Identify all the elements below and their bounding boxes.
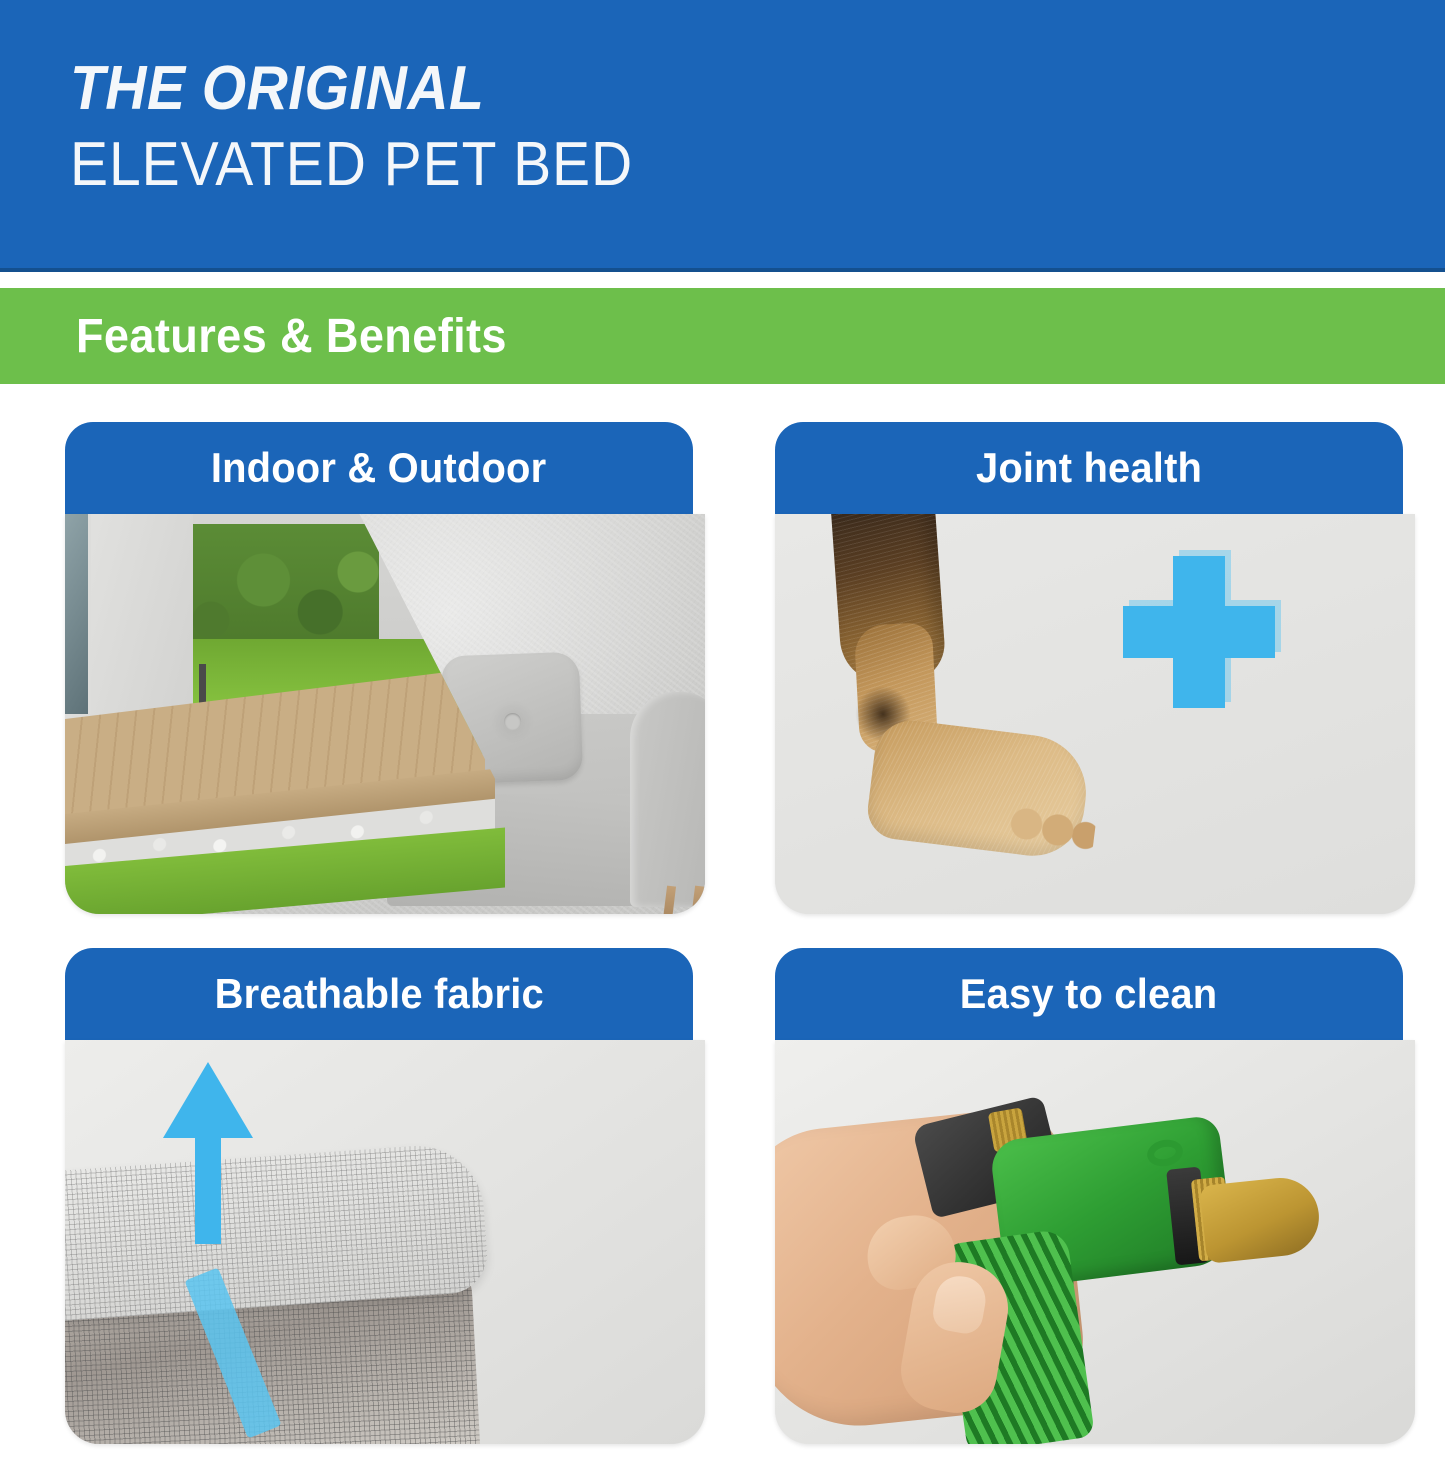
card-title-breathable-fabric: Breathable fabric [214, 970, 543, 1018]
feature-card-breathable-fabric: Breathable fabric [65, 948, 705, 1458]
card-title-joint-health: Joint health [976, 444, 1202, 492]
page-title-line-1: THE ORIGINAL [70, 58, 1335, 120]
sofa-armrest [630, 692, 705, 907]
airflow-arrow-icon [163, 1062, 251, 1242]
card-image-indoor-outdoor [65, 514, 705, 914]
header-banner-divider [0, 276, 1445, 288]
feature-card-easy-to-clean: Easy to clean [775, 948, 1415, 1458]
feature-card-indoor-outdoor: Indoor & Outdoor [65, 422, 705, 932]
features-benefits-label: Features & Benefits [76, 309, 507, 364]
card-title-easy-to-clean: Easy to clean [960, 970, 1218, 1018]
card-image-joint-health [775, 514, 1415, 914]
page-header: THE ORIGINAL ELEVATED PET BED [0, 0, 1445, 272]
feature-card-joint-health: Joint health [775, 422, 1415, 932]
card-header-easy-to-clean: Easy to clean [775, 948, 1403, 1040]
feature-card-grid: Indoor & Outdoor [0, 384, 1445, 1420]
card-image-easy-to-clean [775, 1040, 1415, 1444]
medical-cross-icon [1123, 556, 1275, 708]
nozzle-brass-tip [1199, 1174, 1323, 1264]
card-header-indoor-outdoor: Indoor & Outdoor [65, 422, 693, 514]
card-header-joint-health: Joint health [775, 422, 1403, 514]
features-benefits-banner: Features & Benefits [0, 288, 1445, 384]
indoor-outdoor-photo [65, 514, 705, 914]
easy-to-clean-photo [775, 1040, 1415, 1444]
card-image-breathable-fabric [65, 1040, 705, 1444]
card-title-indoor-outdoor: Indoor & Outdoor [211, 444, 546, 492]
breathable-fabric-photo [65, 1040, 705, 1444]
joint-health-photo [775, 514, 1415, 914]
page-title-line-2: ELEVATED PET BED [70, 134, 1335, 196]
glass-door [65, 514, 91, 714]
card-header-breathable-fabric: Breathable fabric [65, 948, 693, 1040]
